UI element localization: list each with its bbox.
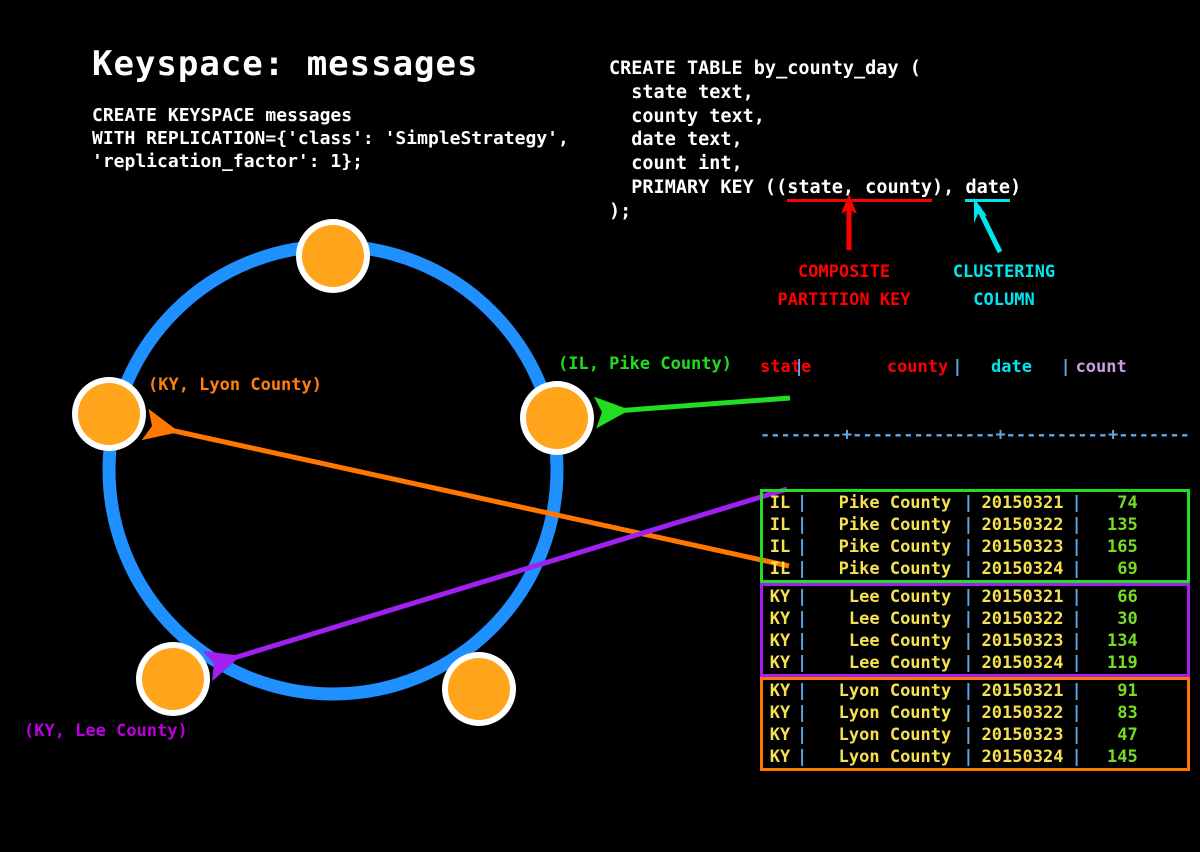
clustering-column-name: date xyxy=(965,177,1010,202)
column-header-state: state xyxy=(760,356,794,378)
cell-count: 83 xyxy=(1082,702,1144,724)
cell-count: 91 xyxy=(1082,680,1144,702)
pipe-separator: | xyxy=(963,537,973,557)
table-row: KY|Lyon County|20150323|47 xyxy=(763,724,1187,746)
pipe-separator: | xyxy=(797,681,807,701)
table-row-groups: IL|Pike County|20150321|74IL|Pike County… xyxy=(760,489,1190,771)
pipe-separator: | xyxy=(963,653,973,673)
cell-county: Lee County xyxy=(807,630,955,652)
pipe-separator: | xyxy=(797,515,807,535)
cell-date: 20150321 xyxy=(974,680,1072,702)
pipe-separator: | xyxy=(963,747,973,767)
cell-county: Lee County xyxy=(807,586,955,608)
cell-date: 20150321 xyxy=(974,492,1072,514)
pipe-separator: | xyxy=(1072,537,1082,557)
table-row: KY|Lee County|20150324|119 xyxy=(763,652,1187,674)
pipe-separator: | xyxy=(797,559,807,579)
table-header-separator: --------+--------------+----------+-----… xyxy=(760,424,1190,445)
cell-state: IL xyxy=(763,492,797,514)
cell-state: KY xyxy=(763,680,797,702)
ring-label-lee-county: (KY, Lee County) xyxy=(24,721,188,741)
cell-count: 134 xyxy=(1082,630,1144,652)
page-title: Keyspace: messages xyxy=(92,44,478,84)
cell-county: Lee County xyxy=(807,608,955,630)
table-row: KY|Lyon County|20150322|83 xyxy=(763,702,1187,724)
pipe-separator: | xyxy=(797,631,807,651)
cell-count: 74 xyxy=(1082,492,1144,514)
cell-count: 66 xyxy=(1082,586,1144,608)
column-header-county: county xyxy=(804,356,952,378)
pipe-separator: | xyxy=(1072,703,1082,723)
pipe-separator: | xyxy=(1072,515,1082,535)
pipe-separator: | xyxy=(1061,357,1071,377)
pipe-separator: | xyxy=(963,681,973,701)
cell-date: 20150323 xyxy=(974,724,1072,746)
cell-count: 135 xyxy=(1082,514,1144,536)
pipe-separator: | xyxy=(1072,609,1082,629)
cell-state: KY xyxy=(763,586,797,608)
cell-county: Pike County xyxy=(807,514,955,536)
cell-date: 20150324 xyxy=(974,558,1072,580)
pipe-separator: | xyxy=(797,493,807,513)
ring-label-pike-county: (IL, Pike County) xyxy=(558,354,732,374)
table-row: KY|Lee County|20150323|134 xyxy=(763,630,1187,652)
query-result-table: state|county|date|count --------+-------… xyxy=(760,312,1190,793)
table-row: IL|Pike County|20150322|135 xyxy=(763,514,1187,536)
table-row: IL|Pike County|20150324|69 xyxy=(763,558,1187,580)
pipe-separator: | xyxy=(797,725,807,745)
cell-county: Lee County xyxy=(807,652,955,674)
ct-primary-key-suffix: ) xyxy=(1010,177,1021,198)
partition-group-lyon: KY|Lyon County|20150321|91KY|Lyon County… xyxy=(760,677,1190,771)
cell-count: 145 xyxy=(1082,746,1144,768)
cell-state: KY xyxy=(763,630,797,652)
composite-partition-key-label: COMPOSITE PARTITION KEY xyxy=(770,258,918,314)
ring-node-right-pike[interactable] xyxy=(520,381,594,455)
column-header-count: count xyxy=(1071,356,1133,378)
ct-line-1: CREATE TABLE by_county_day ( xyxy=(609,58,921,79)
pipe-separator: | xyxy=(797,537,807,557)
pipe-separator: | xyxy=(797,587,807,607)
pipe-separator: | xyxy=(1072,587,1082,607)
cell-date: 20150323 xyxy=(974,536,1072,558)
ring-node-left-lyon[interactable] xyxy=(72,377,146,451)
pipe-separator: | xyxy=(1072,631,1082,651)
table-row: KY|Lyon County|20150321|91 xyxy=(763,680,1187,702)
partition-key-columns: state, county xyxy=(787,177,932,202)
ct-primary-key-middle: ), xyxy=(932,177,965,198)
ct-line-3: county text, xyxy=(609,106,765,127)
cell-state: KY xyxy=(763,652,797,674)
pipe-separator: | xyxy=(1072,725,1082,745)
cell-county: Pike County xyxy=(807,536,955,558)
cell-county: Lyon County xyxy=(807,724,955,746)
create-keyspace-statement: CREATE KEYSPACE messages WITH REPLICATIO… xyxy=(92,104,569,173)
pipe-separator: | xyxy=(963,703,973,723)
cell-count: 30 xyxy=(1082,608,1144,630)
pipe-separator: | xyxy=(794,357,804,377)
cell-county: Lyon County xyxy=(807,746,955,768)
cell-date: 20150322 xyxy=(974,608,1072,630)
cell-date: 20150322 xyxy=(974,702,1072,724)
arrow-lyon-to-node xyxy=(152,426,789,566)
cell-state: KY xyxy=(763,702,797,724)
cell-state: IL xyxy=(763,514,797,536)
table-row: KY|Lee County|20150322|30 xyxy=(763,608,1187,630)
pipe-separator: | xyxy=(963,587,973,607)
ring-node-bottom-right[interactable] xyxy=(442,652,516,726)
cell-count: 69 xyxy=(1082,558,1144,580)
cell-county: Pike County xyxy=(807,492,955,514)
ct-line-2: state text, xyxy=(609,82,754,103)
table-row: IL|Pike County|20150323|165 xyxy=(763,536,1187,558)
pipe-separator: | xyxy=(797,703,807,723)
pipe-separator: | xyxy=(963,515,973,535)
cell-county: Lyon County xyxy=(807,680,955,702)
pipe-separator: | xyxy=(963,559,973,579)
cell-date: 20150324 xyxy=(974,746,1072,768)
pipe-separator: | xyxy=(963,725,973,745)
pipe-separator: | xyxy=(963,609,973,629)
pipe-separator: | xyxy=(797,653,807,673)
cell-date: 20150323 xyxy=(974,630,1072,652)
table-row: KY|Lyon County|20150324|145 xyxy=(763,746,1187,768)
cell-state: KY xyxy=(763,724,797,746)
pipe-separator: | xyxy=(797,609,807,629)
partition-group-lee: KY|Lee County|20150321|66KY|Lee County|2… xyxy=(760,583,1190,677)
ct-primary-key-prefix: PRIMARY KEY (( xyxy=(609,177,787,198)
cell-county: Lyon County xyxy=(807,702,955,724)
pipe-separator: | xyxy=(1072,559,1082,579)
pipe-separator: | xyxy=(797,747,807,767)
table-row: KY|Lee County|20150321|66 xyxy=(763,586,1187,608)
pipe-separator: | xyxy=(1072,681,1082,701)
cell-state: IL xyxy=(763,536,797,558)
cell-date: 20150324 xyxy=(974,652,1072,674)
cell-count: 47 xyxy=(1082,724,1144,746)
cell-date: 20150322 xyxy=(974,514,1072,536)
pipe-separator: | xyxy=(963,493,973,513)
create-table-statement: CREATE TABLE by_county_day ( state text,… xyxy=(609,57,1021,224)
cell-state: KY xyxy=(763,746,797,768)
pipe-separator: | xyxy=(952,357,962,377)
ring-node-top[interactable] xyxy=(296,219,370,293)
ct-line-7: ); xyxy=(609,201,631,222)
partition-group-pike: IL|Pike County|20150321|74IL|Pike County… xyxy=(760,489,1190,583)
pipe-separator: | xyxy=(1072,653,1082,673)
cell-county: Pike County xyxy=(807,558,955,580)
table-row: IL|Pike County|20150321|74 xyxy=(763,492,1187,514)
cell-state: IL xyxy=(763,558,797,580)
ct-line-4: date text, xyxy=(609,129,743,150)
pipe-separator: | xyxy=(963,631,973,651)
pipe-separator: | xyxy=(1072,747,1082,767)
ct-line-5: count int, xyxy=(609,153,743,174)
arrow-lee-to-node xyxy=(214,489,787,664)
pipe-separator: | xyxy=(1072,493,1082,513)
cell-state: KY xyxy=(763,608,797,630)
table-header-row: state|county|date|count xyxy=(760,356,1190,380)
cell-date: 20150321 xyxy=(974,586,1072,608)
ring-label-lyon-county: (KY, Lyon County) xyxy=(148,375,322,395)
clustering-column-label: CLUSTERING COLUMN xyxy=(944,258,1064,314)
cell-count: 119 xyxy=(1082,652,1144,674)
cell-count: 165 xyxy=(1082,536,1144,558)
column-header-date: date xyxy=(963,356,1061,378)
ring-node-bottom-left-lee[interactable] xyxy=(136,642,210,716)
